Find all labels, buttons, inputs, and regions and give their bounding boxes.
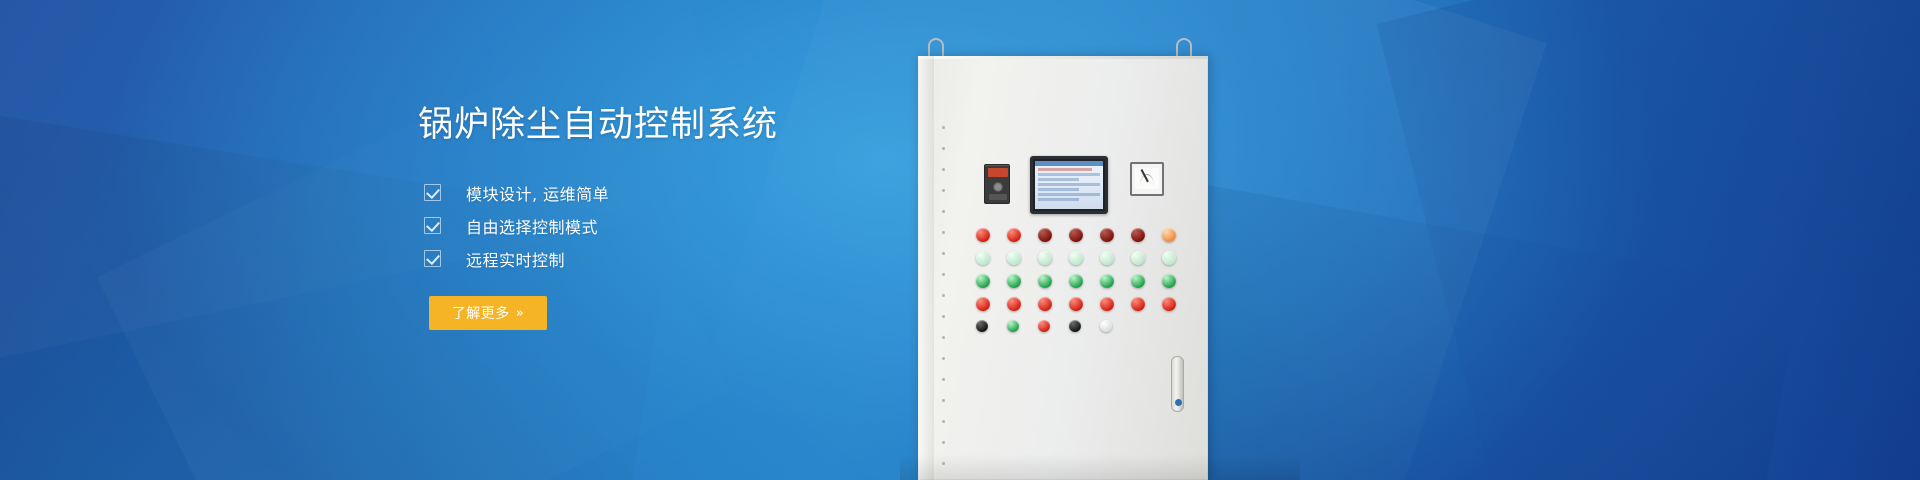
lamp-row — [976, 228, 1176, 242]
hero-banner: 锅炉除尘自动控制系统 模块设计, 运维简单 自由选择控制模式 远程实时控制 了解… — [0, 0, 1920, 480]
selector-switch — [1069, 320, 1081, 332]
hmi-screen-row — [1038, 173, 1100, 176]
indicator-lamp — [1100, 251, 1114, 265]
hmi-title-bar — [1035, 161, 1103, 166]
page-title: 锅炉除尘自动控制系统 — [418, 104, 778, 146]
lifting-eye-left-icon — [928, 38, 944, 58]
cabinet-top-edge — [918, 56, 1208, 59]
hmi-screen-row — [1038, 188, 1079, 191]
indicator-lamp-grid — [976, 228, 1176, 341]
gauge-dial — [1135, 168, 1159, 189]
list-item: 远程实时控制 — [424, 242, 609, 275]
indicator-lamp — [1100, 297, 1114, 311]
checkbox-icon — [424, 217, 441, 234]
indicator-lamp — [1007, 274, 1021, 288]
list-item-label: 远程实时控制 — [466, 247, 565, 271]
indicator-lamp — [1131, 251, 1145, 265]
digital-controller-icon — [984, 164, 1010, 204]
indicator-lamp — [1069, 274, 1083, 288]
selector-switch — [976, 320, 988, 332]
cabinet-door-edge — [918, 56, 934, 480]
lifting-eye-right-icon — [1176, 38, 1192, 58]
lamp-row — [976, 274, 1176, 288]
hmi-touch-panel — [1030, 156, 1108, 214]
controller-buttons — [989, 194, 1007, 200]
indicator-lamp — [1038, 297, 1052, 311]
indicator-lamp — [1007, 251, 1021, 265]
background-facet-4 — [1377, 0, 1920, 480]
push-button — [1038, 320, 1050, 332]
hmi-screen-row — [1038, 183, 1100, 186]
lamp-row — [976, 251, 1176, 265]
lamp-row — [976, 320, 1176, 332]
list-item: 自由选择控制模式 — [424, 209, 609, 242]
indicator-lamp — [1162, 274, 1176, 288]
indicator-lamp — [1069, 228, 1083, 242]
indicator-lamp — [1162, 228, 1176, 242]
indicator-lamp — [1069, 297, 1083, 311]
indicator-lamp — [1131, 228, 1145, 242]
lock-icon — [1175, 399, 1182, 406]
indicator-lamp — [1100, 228, 1114, 242]
indicator-lamp — [976, 228, 990, 242]
cabinet-door-handle — [1171, 356, 1184, 412]
checkbox-icon — [424, 250, 441, 267]
lamp-row — [976, 297, 1176, 311]
indicator-lamp — [1038, 251, 1052, 265]
indicator-lamp — [976, 274, 990, 288]
chevron-right-icon: » — [516, 306, 524, 321]
controller-knob — [993, 182, 1003, 192]
hmi-screen-row — [1038, 178, 1079, 181]
indicator-lamp — [1162, 251, 1176, 265]
indicator-lamp — [1038, 228, 1052, 242]
indicator-lamp — [1069, 251, 1083, 265]
indicator-lamp — [1007, 228, 1021, 242]
list-item: 模块设计, 运维简单 — [424, 176, 609, 209]
push-button — [1007, 320, 1019, 332]
screw-row — [942, 126, 946, 480]
indicator-lamp — [976, 251, 990, 265]
controller-display — [988, 168, 1008, 177]
indicator-lamp — [976, 297, 990, 311]
feature-list: 模块设计, 运维简单 自由选择控制模式 远程实时控制 — [424, 176, 609, 275]
push-button — [1100, 320, 1112, 332]
control-cabinet-photo — [900, 0, 1300, 480]
indicator-lamp — [1038, 274, 1052, 288]
indicator-lamp — [1162, 297, 1176, 311]
list-item-label: 自由选择控制模式 — [466, 214, 598, 238]
floor-shadow — [900, 454, 1300, 480]
analog-gauge-icon — [1130, 162, 1164, 196]
list-item-label: 模块设计, 运维简单 — [466, 181, 609, 205]
cabinet-door — [918, 56, 1208, 480]
learn-more-label: 了解更多 — [452, 303, 510, 323]
indicator-lamp — [1131, 297, 1145, 311]
indicator-lamp — [1131, 274, 1145, 288]
learn-more-button[interactable]: 了解更多 » — [429, 296, 547, 330]
indicator-lamp — [1007, 297, 1021, 311]
hmi-screen-row — [1038, 193, 1100, 196]
hmi-screen-row — [1038, 168, 1092, 171]
hmi-screen-row — [1038, 198, 1079, 201]
banner-copy: 锅炉除尘自动控制系统 模块设计, 运维简单 自由选择控制模式 远程实时控制 了解… — [418, 0, 978, 480]
indicator-lamp — [1100, 274, 1114, 288]
hmi-screen — [1035, 161, 1103, 209]
checkbox-icon — [424, 184, 441, 201]
